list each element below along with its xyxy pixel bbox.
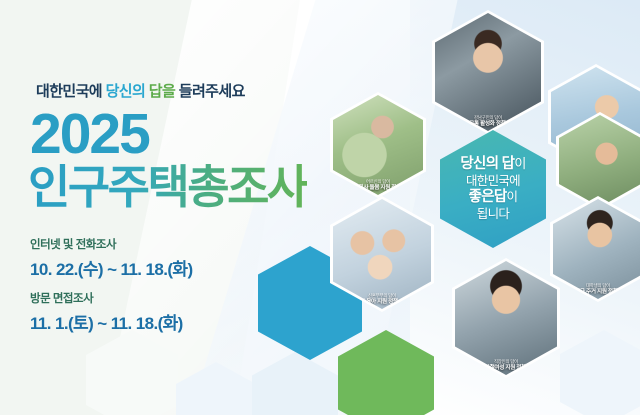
schedule-in-person-label: 방문 면접조사 — [30, 290, 183, 306]
tagline-part-1: 대한민국에 — [36, 80, 102, 101]
message-text: 당신의 답이 대한민국에 좋은답이 됩니다 — [460, 156, 525, 223]
tagline-part-2: 당신의 — [106, 80, 146, 101]
schedule-internet-phone-date: 10. 22.(수) ~ 11. 18.(화) — [30, 255, 193, 280]
photo-hexagon-family-inner: 신혼부부의 답이 출산 육아 지원 정책 으로 — [333, 199, 431, 309]
photo-hexagon-worker-inner: 직장인의 답이 경력단절여성 지원 정책 으로 — [455, 261, 557, 375]
tagline-part-4: 들려주세요 — [179, 80, 245, 101]
photo-hexagon-couple-inner — [559, 115, 640, 207]
message-line-3: 좋은답이 — [460, 189, 525, 207]
message-line-3-bold: 좋은답 — [469, 189, 507, 205]
message-line-3-tail: 이 — [507, 190, 518, 204]
message-line-1: 당신의 답이 — [460, 156, 525, 174]
tagline-part-3: 답을 — [149, 80, 175, 101]
year-heading: 2025 — [30, 106, 149, 163]
schedule-in-person: 방문 면접조사 11. 1.(토) ~ 11. 18.(화) — [30, 290, 183, 334]
message-line-1-bold: 당신의 답 — [460, 156, 514, 172]
photo-hexagon-commuter-inner: 강남구민의 답이 대중교통 활성화 정책 으로 — [435, 13, 541, 131]
photo-hexagon-student-inner: 대학생의 답이 1인가구 주거 지원 정책 으로 — [553, 199, 640, 299]
photo-hexagon-elder-inner: 어르신의 답이 활동지원사 돌봄 지원 정책 으로 — [333, 95, 423, 195]
message-line-4: 됩니다 — [460, 207, 525, 223]
page-title: 인구주택총조사 — [28, 164, 307, 210]
census-poster: 어르신의 답이 활동지원사 돌봄 지원 정책 으로 강남구민의 답이 대중교통 … — [0, 0, 640, 415]
schedule-in-person-date: 11. 1.(토) ~ 11. 18.(화) — [30, 309, 183, 334]
tagline: 대한민국에 당신의 답을 들려주세요 — [36, 80, 245, 101]
photo-commuter — [435, 13, 541, 131]
message-line-2: 대한민국에 — [460, 174, 525, 190]
message-line-1-tail: 이 — [514, 156, 525, 171]
schedule-internet-phone: 인터넷 및 전화조사 10. 22.(수) ~ 11. 18.(화) — [30, 236, 193, 280]
photo-couple — [559, 115, 640, 207]
schedule-internet-phone-label: 인터넷 및 전화조사 — [30, 236, 193, 252]
